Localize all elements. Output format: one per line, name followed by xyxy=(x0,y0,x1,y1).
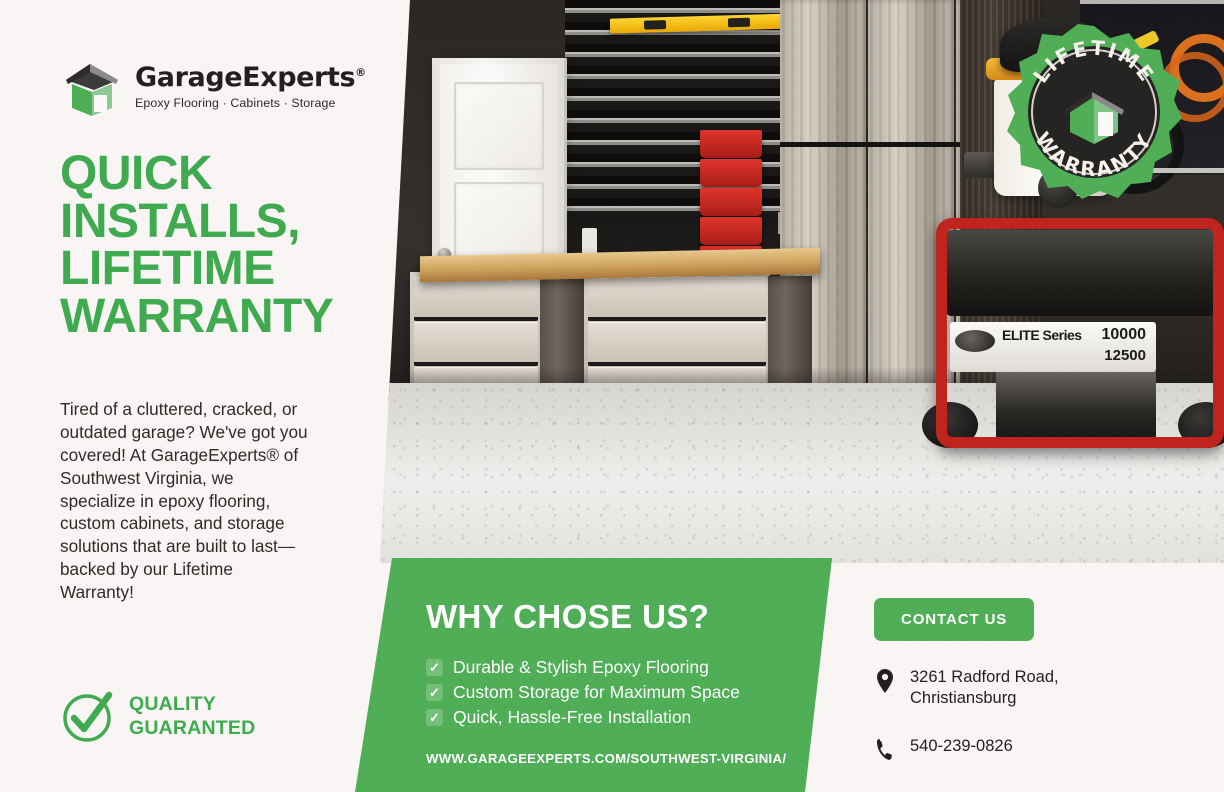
phone-row[interactable]: 540-239-0826 xyxy=(874,736,1194,760)
registered-mark: ® xyxy=(355,66,366,79)
brand-name: GarageExperts® xyxy=(135,64,366,91)
list-item-label: Custom Storage for Maximum Space xyxy=(453,682,740,704)
flyer-canvas: ELITE Series 10000 12500 LIFETIME xyxy=(0,0,1224,792)
location-pin-icon xyxy=(874,667,896,693)
address-text: 3261 Radford Road, Christiansburg xyxy=(910,667,1059,710)
shelf-rail-top xyxy=(1080,0,1224,4)
brand-tagline: Epoxy Flooring · Cabinets · Storage xyxy=(135,96,366,110)
list-item: ✓ Custom Storage for Maximum Space xyxy=(426,682,826,704)
brand-logo: GarageExperts® Epoxy Flooring · Cabinets… xyxy=(60,58,366,116)
generator-roll-cage xyxy=(936,218,1224,448)
check-icon: ✓ xyxy=(426,659,443,676)
address-line-1: 3261 Radford Road, xyxy=(910,668,1059,686)
phone-number[interactable]: 540-239-0826 xyxy=(910,736,1013,757)
wall-outlet-icon xyxy=(582,228,597,254)
body-paragraph: Tired of a cluttered, cracked, or outdat… xyxy=(60,398,310,604)
lifetime-warranty-seal: LIFETIME WARRANTY xyxy=(1006,24,1182,200)
contact-section: CONTACT US 3261 Radford Road, Christians… xyxy=(874,598,1194,760)
check-circle-icon xyxy=(60,688,116,744)
contact-us-button[interactable]: CONTACT US xyxy=(874,598,1034,641)
why-chose-us-title: WHY CHOSE US? xyxy=(426,600,826,633)
website-url[interactable]: WWW.GARAGEEXPERTS.COM/SOUTHWEST-VIRGINIA… xyxy=(426,751,826,766)
list-item: ✓ Durable & Stylish Epoxy Flooring xyxy=(426,657,826,679)
list-item-label: Quick, Hassle-Free Installation xyxy=(453,707,691,729)
list-item-label: Durable & Stylish Epoxy Flooring xyxy=(453,657,709,679)
quality-line-1: QUALITY xyxy=(129,692,255,716)
quality-guaranteed-badge: QUALITY GUARANTED xyxy=(60,688,255,744)
quality-line-2: GUARANTED xyxy=(129,716,255,740)
portable-generator: ELITE Series 10000 12500 xyxy=(936,218,1224,448)
benefits-list: ✓ Durable & Stylish Epoxy Flooring ✓ Cus… xyxy=(426,657,826,729)
check-icon: ✓ xyxy=(426,709,443,726)
check-icon: ✓ xyxy=(426,684,443,701)
garage-house-icon xyxy=(60,58,124,116)
why-chose-us-content: WHY CHOSE US? ✓ Durable & Stylish Epoxy … xyxy=(426,600,826,766)
list-item: ✓ Quick, Hassle-Free Installation xyxy=(426,707,826,729)
address-row: 3261 Radford Road, Christiansburg xyxy=(874,667,1194,710)
address-line-2: Christiansburg xyxy=(910,689,1016,707)
quality-badge-text: QUALITY GUARANTED xyxy=(129,692,255,741)
page-title: QUICK INSTALLS, LIFETIME WARRANTY xyxy=(60,150,390,340)
phone-icon xyxy=(874,736,896,760)
